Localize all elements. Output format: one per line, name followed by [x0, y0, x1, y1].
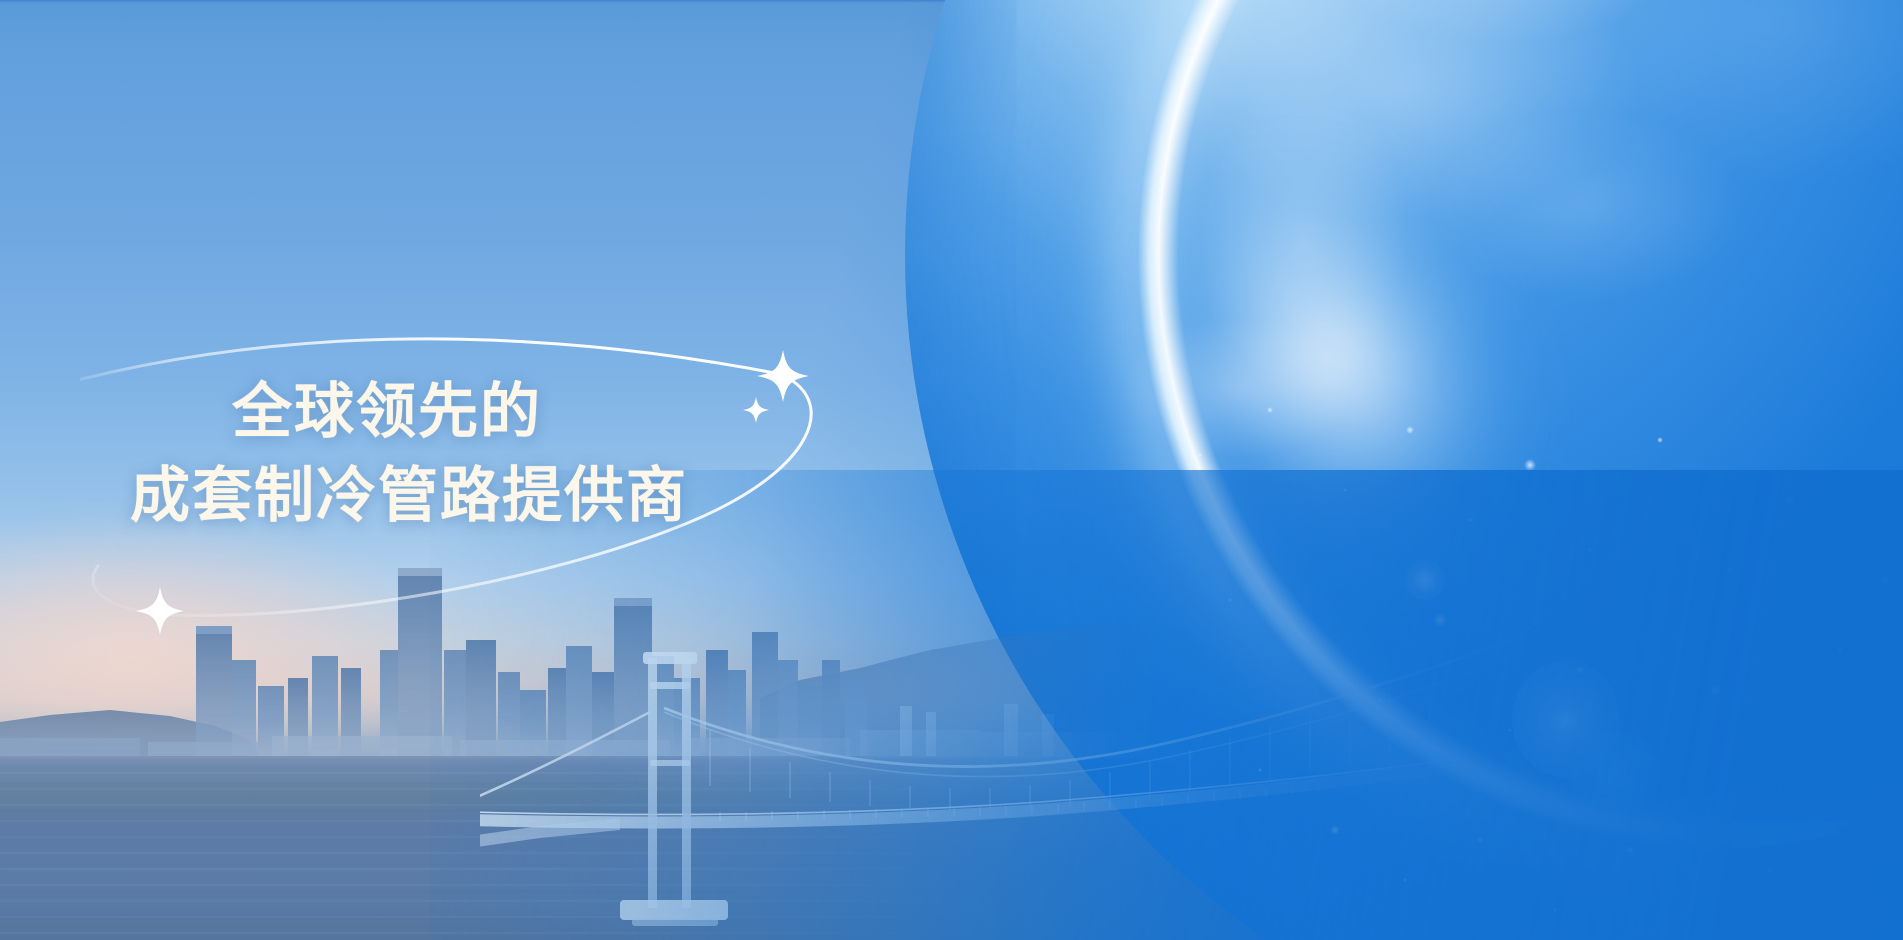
- hero-banner: 全球领先的 成套制冷管路提供商: [0, 0, 1903, 940]
- page-title: 全球领先的 成套制冷管路提供商: [130, 370, 890, 538]
- suspension-bridge: [480, 600, 1540, 940]
- headline-line-1: 全球领先的: [130, 370, 890, 454]
- headline-line-2: 成套制冷管路提供商: [130, 454, 890, 538]
